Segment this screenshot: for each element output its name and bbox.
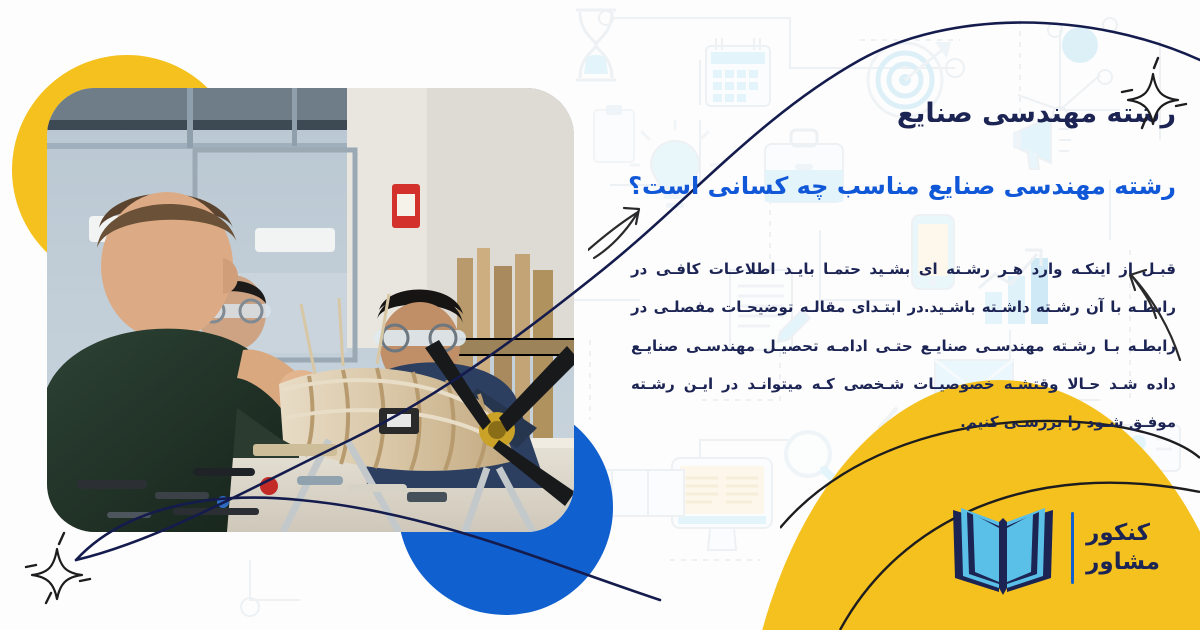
open-book-icon (947, 500, 1059, 595)
body-paragraph: قبـل از اینکـه وارد هـر رشـته ای بشـید ح… (631, 250, 1176, 441)
sparkle-bottom-left-icon (12, 525, 102, 615)
logo-divider (1071, 512, 1074, 584)
hero-photo (47, 88, 574, 532)
poster-canvas: رشته مهندسی صنایع رشته مهندسی صنایع مناس… (0, 0, 1200, 630)
page-subtitle: رشته مهندسی صنایع مناسب چه کسانی است؟ (628, 172, 1176, 200)
brand-logo[interactable]: کنکور مشاور (947, 500, 1160, 595)
brand-name-line1: کنکور (1086, 519, 1150, 548)
brand-name-line2: مشاور (1086, 548, 1160, 577)
brand-logo-text: کنکور مشاور (1086, 519, 1160, 577)
page-title: رشته مهندسی صنایع (897, 98, 1176, 129)
